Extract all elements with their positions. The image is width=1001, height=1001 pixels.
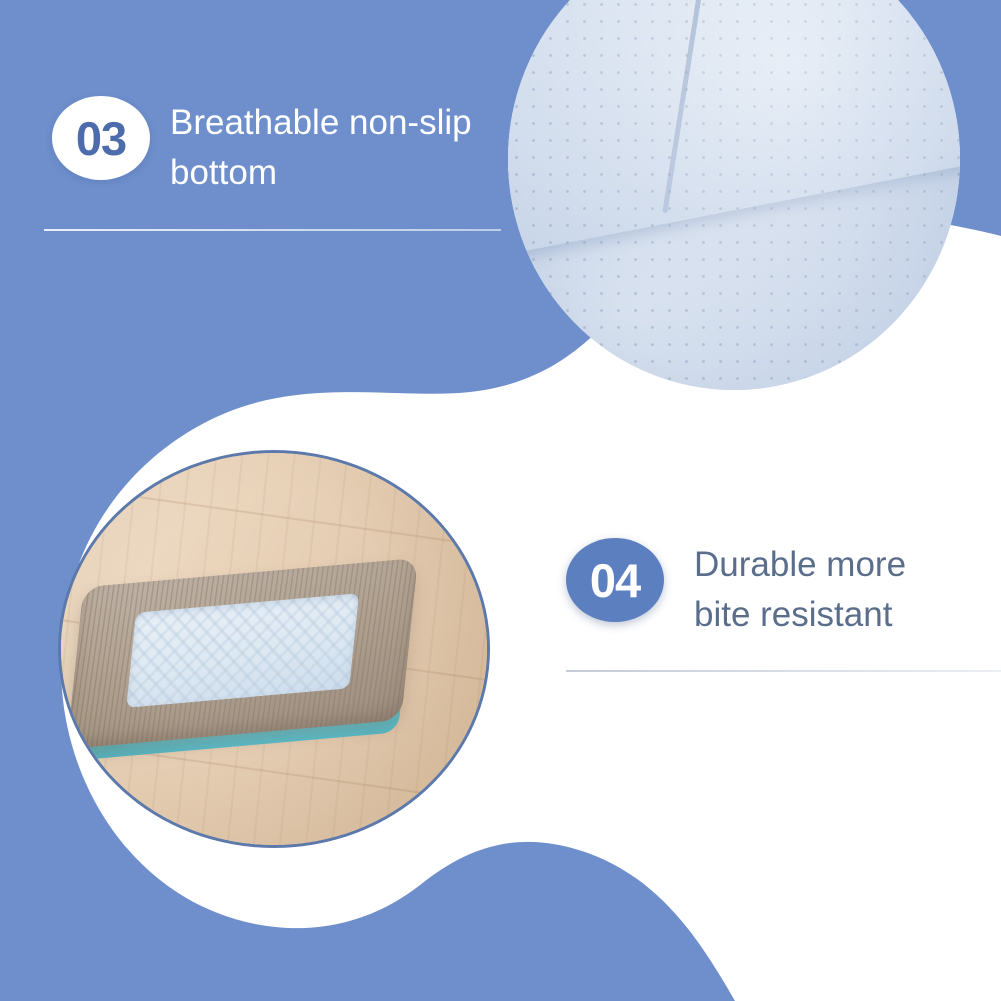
photo-vignette (61, 453, 487, 845)
photo-pet-bed-product-shot (58, 450, 490, 848)
product-feature-poster: 03 Breathable non-slip bottom 04 Durable… (0, 0, 1001, 1001)
feature-divider-03 (44, 229, 501, 231)
feature-number-badge-04: 04 (566, 538, 664, 622)
feature-title-line-1: Durable more (694, 540, 906, 590)
feature-title-04: Durable more bite resistant (694, 538, 906, 639)
feature-title-03: Breathable non-slip bottom (170, 96, 472, 197)
feature-block-03: 03 Breathable non-slip bottom (52, 96, 472, 197)
feature-number-badge-03: 03 (52, 96, 150, 180)
feature-block-04: 04 Durable more bite resistant (566, 538, 906, 639)
fabric-shading-overlay (508, 0, 960, 390)
feature-title-line-1: Breathable non-slip (170, 98, 472, 148)
feature-divider-04 (566, 670, 1001, 672)
photo-breathable-fabric-closeup (508, 0, 960, 390)
feature-title-line-2: bottom (170, 148, 472, 198)
feature-title-line-2: bite resistant (694, 590, 906, 640)
